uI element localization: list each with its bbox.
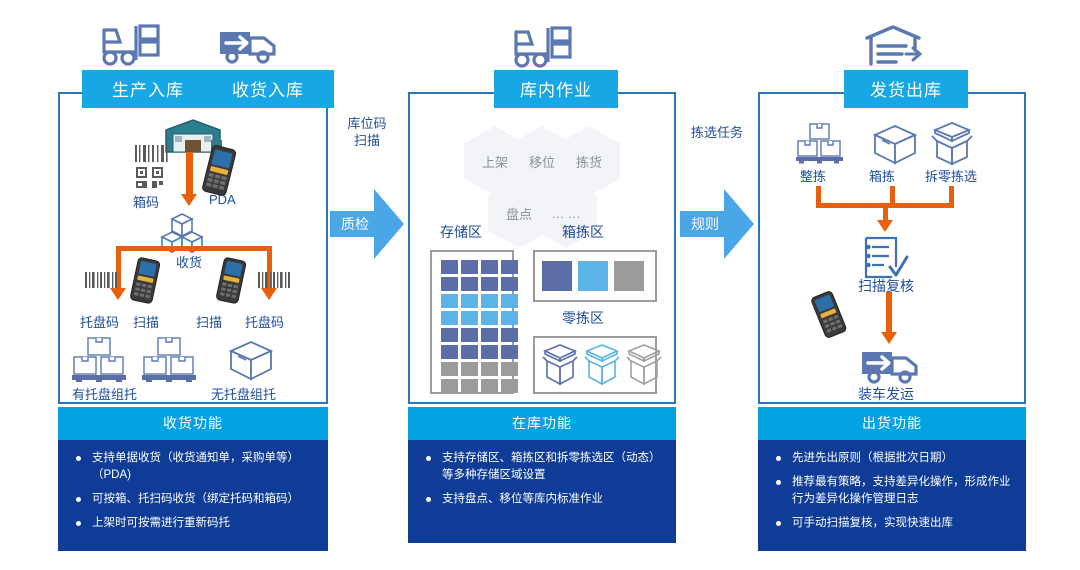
bullet-item: 可按箱、托扫码收货（绑定托码和箱码） xyxy=(66,491,320,508)
pallet-stack-icon-1 xyxy=(72,336,126,382)
arrow-shaft-warehouse-receiving xyxy=(186,152,193,196)
label-receiving: 收货 xyxy=(176,252,202,271)
label-pallet-code-right: 托盘码 xyxy=(245,312,284,331)
box-code-symbol xyxy=(134,145,172,189)
branch-bar xyxy=(116,246,272,251)
label-case-pick-zone: 箱拣区 xyxy=(562,222,604,242)
bullet-item: 支持盘点、移位等库内标准作业 xyxy=(416,491,668,508)
pallet-pick-icon xyxy=(796,122,844,164)
diagram-canvas: 生产入库 收货入库 箱码 xyxy=(0,0,1080,570)
case-pick-box-icon xyxy=(872,124,918,166)
bullet-item: 支持存储区、箱拣区和拆零拣选区（动态）等多种存储区域设置 xyxy=(416,450,668,484)
card-body-inbound: 支持单据收货（收货通知单，采购单等）（PDA) 可按箱、托扫码收货（绑定托码和箱… xyxy=(58,440,328,551)
label-storage-zone: 存储区 xyxy=(440,222,482,242)
arrow-head-to-shipping xyxy=(881,332,897,344)
pallet-stack-icon-2 xyxy=(142,336,196,382)
badge-shipping-outbound[interactable]: 发货出库 xyxy=(844,70,968,108)
arrow-head-warehouse-receiving xyxy=(181,194,197,206)
open-box-icon-3 xyxy=(625,344,663,386)
label-load-ship: 装车发运 xyxy=(858,384,914,404)
forklift-icon-2 xyxy=(508,24,574,72)
label-pda: PDA xyxy=(209,192,236,207)
badge-receiving-inbound[interactable]: 收货入库 xyxy=(202,70,334,108)
case-slot-1 xyxy=(542,261,572,291)
piece-pick-open-box-icon xyxy=(930,122,974,166)
card-body-instock: 支持存储区、箱拣区和拆零拣选区（动态）等多种存储区域设置 支持盘点、移位等库内标… xyxy=(408,440,676,543)
connector-label-1: 库位码 扫描 xyxy=(334,115,400,149)
label-box-code: 箱码 xyxy=(133,192,159,211)
label-full-pallet-pick: 整拣 xyxy=(800,166,826,185)
label-without-pallet: 无托盘组托 xyxy=(211,384,276,403)
shipping-truck-icon xyxy=(858,344,922,388)
connector-arrow-text-1: 质检 xyxy=(341,214,369,234)
feature-card-instock: 在库功能 支持存储区、箱拣区和拆零拣选区（动态）等多种存储区域设置 支持盘点、移… xyxy=(408,407,676,543)
single-box-icon xyxy=(228,340,274,382)
label-piece-pick: 拆零拣选 xyxy=(925,166,977,185)
card-body-outbound: 先进先出原则（根据批次日期） 推荐最有策略，支持差异化操作，形成作业行为差异化操… xyxy=(758,440,1026,551)
feature-card-inbound: 收货功能 支持单据收货（收货通知单，采购单等）（PDA) 可按箱、托扫码收货（绑… xyxy=(58,407,328,551)
delivery-truck-icon xyxy=(216,24,280,68)
bullet-item: 上架时可按需进行重新码托 xyxy=(66,515,320,532)
bullet-item: 先进先出原则（根据批次日期） xyxy=(766,450,1018,467)
card-header-inbound: 收货功能 xyxy=(58,407,328,440)
forklift-icon xyxy=(96,22,162,70)
card-header-outbound: 出货功能 xyxy=(758,407,1026,440)
bullet-item: 推荐最有策略，支持差异化操作，形成作业行为差异化操作管理日志 xyxy=(766,474,1018,508)
badge-in-warehouse-ops[interactable]: 库内作业 xyxy=(494,70,618,108)
case-slot-2 xyxy=(578,261,608,291)
bullet-item: 支持单据收货（收货通知单，采购单等）（PDA) xyxy=(66,450,320,484)
merge-down-head xyxy=(877,220,893,232)
feature-card-outbound: 出货功能 先进先出原则（根据批次日期） 推荐最有策略，支持差异化操作，形成作业行… xyxy=(758,407,1026,551)
open-box-icon-2 xyxy=(583,344,621,386)
label-scan-right: 扫描 xyxy=(196,312,222,331)
arrow-shaft-to-shipping xyxy=(886,292,892,334)
barcode-left-icon xyxy=(85,272,119,292)
label-pallet-code-left: 托盘码 xyxy=(80,312,119,331)
badge-production-inbound[interactable]: 生产入库 xyxy=(82,70,214,108)
open-box-icon-1 xyxy=(541,344,579,386)
card-header-instock: 在库功能 xyxy=(408,407,676,440)
connector-arrow-text-2: 规则 xyxy=(691,214,719,234)
barcode-right-icon xyxy=(258,272,292,292)
scan-check-clipboard-icon xyxy=(862,235,908,281)
label-piece-pick-zone: 零拣区 xyxy=(562,308,604,328)
storage-cell-grid xyxy=(441,260,518,393)
warehouse-out-icon xyxy=(862,24,924,70)
connector-label-2: 拣选任务 xyxy=(679,124,755,141)
bullet-item: 可手动扫描复核，实现快速出库 xyxy=(766,515,1018,532)
label-with-pallet: 有托盘组托 xyxy=(72,384,137,403)
label-scan-left: 扫描 xyxy=(133,312,159,331)
case-slot-3 xyxy=(614,261,644,291)
label-case-pick: 箱拣 xyxy=(869,166,895,185)
